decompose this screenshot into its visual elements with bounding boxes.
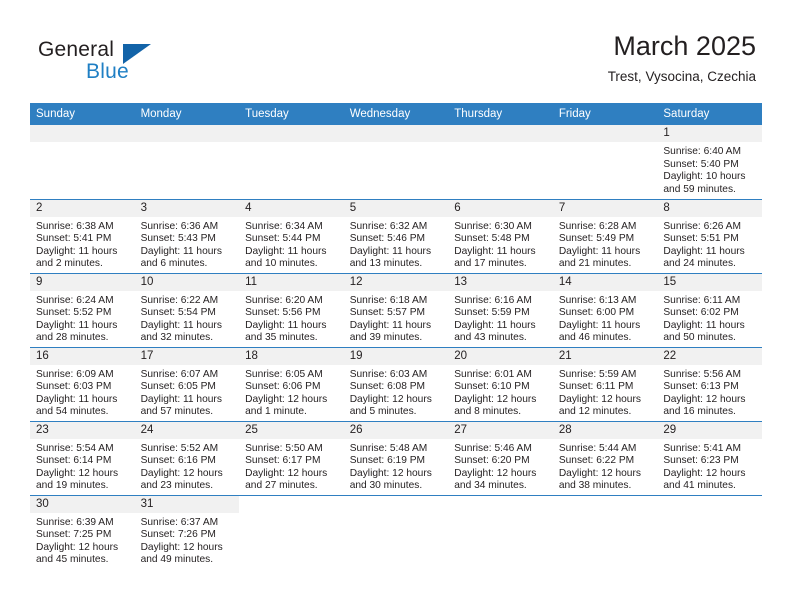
daylight-text-line2: and 6 minutes.	[141, 258, 234, 271]
calendar-day-cell[interactable]: 7Sunrise: 6:28 AMSunset: 5:49 PMDaylight…	[553, 199, 658, 273]
daylight-text-line2: and 23 minutes.	[141, 480, 234, 493]
sunset-text: Sunset: 6:03 PM	[36, 381, 129, 394]
day-sun-info: Sunrise: 5:41 AMSunset: 6:23 PMDaylight:…	[657, 439, 762, 493]
sunset-text: Sunset: 5:51 PM	[663, 233, 756, 246]
day-cell-inner: 13Sunrise: 6:16 AMSunset: 5:59 PMDayligh…	[448, 274, 553, 347]
weekday-header-monday: Monday	[135, 103, 240, 125]
daylight-text-line1: Daylight: 11 hours	[454, 320, 547, 333]
day-sun-info: Sunrise: 6:34 AMSunset: 5:44 PMDaylight:…	[239, 217, 344, 271]
sunrise-text: Sunrise: 6:30 AM	[454, 221, 547, 234]
day-number: 29	[657, 422, 762, 439]
sunrise-text: Sunrise: 5:46 AM	[454, 443, 547, 456]
day-cell-inner	[344, 496, 449, 574]
day-cell-inner: 28Sunrise: 5:44 AMSunset: 6:22 PMDayligh…	[553, 422, 658, 495]
sunrise-text: Sunrise: 6:18 AM	[350, 295, 443, 308]
daylight-text-line2: and 46 minutes.	[559, 332, 652, 345]
daylight-text-line1: Daylight: 12 hours	[245, 394, 338, 407]
sunrise-text: Sunrise: 6:39 AM	[36, 517, 129, 530]
day-number: 10	[135, 274, 240, 291]
day-number: 22	[657, 348, 762, 365]
day-cell-inner: 24Sunrise: 5:52 AMSunset: 6:16 PMDayligh…	[135, 422, 240, 495]
day-sun-info: Sunrise: 5:59 AMSunset: 6:11 PMDaylight:…	[553, 365, 658, 419]
calendar-day-cell[interactable]: 17Sunrise: 6:07 AMSunset: 6:05 PMDayligh…	[135, 347, 240, 421]
daylight-text-line2: and 41 minutes.	[663, 480, 756, 493]
day-number: 24	[135, 422, 240, 439]
daylight-text-line1: Daylight: 12 hours	[350, 468, 443, 481]
daylight-text-line1: Daylight: 11 hours	[245, 246, 338, 259]
daylight-text-line2: and 13 minutes.	[350, 258, 443, 271]
calendar-day-cell[interactable]: 8Sunrise: 6:26 AMSunset: 5:51 PMDaylight…	[657, 199, 762, 273]
day-cell-inner: 12Sunrise: 6:18 AMSunset: 5:57 PMDayligh…	[344, 274, 449, 347]
day-cell-inner: 22Sunrise: 5:56 AMSunset: 6:13 PMDayligh…	[657, 348, 762, 421]
day-sun-info: Sunrise: 6:03 AMSunset: 6:08 PMDaylight:…	[344, 365, 449, 419]
day-number: 20	[448, 348, 553, 365]
day-number: 16	[30, 348, 135, 365]
calendar-day-cell[interactable]: 19Sunrise: 6:03 AMSunset: 6:08 PMDayligh…	[344, 347, 449, 421]
page-header: General Blue March 2025 Trest, Vysocina,…	[0, 0, 792, 103]
daylight-text-line1: Daylight: 12 hours	[454, 468, 547, 481]
day-cell-inner: 9Sunrise: 6:24 AMSunset: 5:52 PMDaylight…	[30, 274, 135, 347]
daylight-text-line2: and 17 minutes.	[454, 258, 547, 271]
daylight-text-line1: Daylight: 12 hours	[454, 394, 547, 407]
sunrise-text: Sunrise: 5:52 AM	[141, 443, 234, 456]
day-sun-info: Sunrise: 6:18 AMSunset: 5:57 PMDaylight:…	[344, 291, 449, 345]
calendar-day-cell[interactable]: 2Sunrise: 6:38 AMSunset: 5:41 PMDaylight…	[30, 199, 135, 273]
day-sun-info: Sunrise: 6:36 AMSunset: 5:43 PMDaylight:…	[135, 217, 240, 271]
calendar-day-cell[interactable]: 9Sunrise: 6:24 AMSunset: 5:52 PMDaylight…	[30, 273, 135, 347]
sunset-text: Sunset: 6:23 PM	[663, 455, 756, 468]
sunset-text: Sunset: 7:26 PM	[141, 529, 234, 542]
sunrise-text: Sunrise: 6:37 AM	[141, 517, 234, 530]
day-cell-inner: 15Sunrise: 6:11 AMSunset: 6:02 PMDayligh…	[657, 274, 762, 347]
sunrise-text: Sunrise: 6:03 AM	[350, 369, 443, 382]
sunset-text: Sunset: 6:02 PM	[663, 307, 756, 320]
daylight-text-line2: and 43 minutes.	[454, 332, 547, 345]
calendar-empty-cell	[135, 125, 240, 199]
sunset-text: Sunset: 5:40 PM	[663, 159, 756, 172]
day-sun-info: Sunrise: 6:11 AMSunset: 6:02 PMDaylight:…	[657, 291, 762, 345]
day-number: 8	[657, 200, 762, 217]
day-number: 5	[344, 200, 449, 217]
sunset-text: Sunset: 6:08 PM	[350, 381, 443, 394]
sunrise-text: Sunrise: 6:34 AM	[245, 221, 338, 234]
day-cell-inner	[344, 125, 449, 199]
sunset-text: Sunset: 6:10 PM	[454, 381, 547, 394]
day-cell-inner	[448, 496, 553, 574]
day-sun-info: Sunrise: 6:26 AMSunset: 5:51 PMDaylight:…	[657, 217, 762, 271]
day-number: 23	[30, 422, 135, 439]
sunrise-text: Sunrise: 6:01 AM	[454, 369, 547, 382]
calendar-day-cell[interactable]: 24Sunrise: 5:52 AMSunset: 6:16 PMDayligh…	[135, 421, 240, 495]
day-number-empty	[344, 125, 449, 142]
day-number: 27	[448, 422, 553, 439]
calendar-day-cell[interactable]: 30Sunrise: 6:39 AMSunset: 7:25 PMDayligh…	[30, 495, 135, 573]
sunset-text: Sunset: 5:48 PM	[454, 233, 547, 246]
day-number: 1	[657, 125, 762, 142]
calendar-empty-cell	[448, 125, 553, 199]
sunset-text: Sunset: 5:44 PM	[245, 233, 338, 246]
daylight-text-line2: and 27 minutes.	[245, 480, 338, 493]
sunset-text: Sunset: 6:13 PM	[663, 381, 756, 394]
calendar-empty-cell	[553, 495, 658, 573]
calendar-day-cell[interactable]: 6Sunrise: 6:30 AMSunset: 5:48 PMDaylight…	[448, 199, 553, 273]
day-cell-inner	[135, 125, 240, 199]
daylight-text-line1: Daylight: 12 hours	[663, 468, 756, 481]
day-sun-info: Sunrise: 5:48 AMSunset: 6:19 PMDaylight:…	[344, 439, 449, 493]
day-cell-inner: 8Sunrise: 6:26 AMSunset: 5:51 PMDaylight…	[657, 200, 762, 273]
calendar-day-cell[interactable]: 3Sunrise: 6:36 AMSunset: 5:43 PMDaylight…	[135, 199, 240, 273]
day-cell-inner: 2Sunrise: 6:38 AMSunset: 5:41 PMDaylight…	[30, 200, 135, 273]
calendar-table: Sunday Monday Tuesday Wednesday Thursday…	[30, 103, 762, 573]
day-cell-inner: 23Sunrise: 5:54 AMSunset: 6:14 PMDayligh…	[30, 422, 135, 495]
sunrise-text: Sunrise: 6:36 AM	[141, 221, 234, 234]
day-sun-info: Sunrise: 6:05 AMSunset: 6:06 PMDaylight:…	[239, 365, 344, 419]
calendar-day-cell[interactable]: 5Sunrise: 6:32 AMSunset: 5:46 PMDaylight…	[344, 199, 449, 273]
daylight-text-line2: and 21 minutes.	[559, 258, 652, 271]
calendar-empty-cell	[448, 495, 553, 573]
daylight-text-line2: and 12 minutes.	[559, 406, 652, 419]
daylight-text-line1: Daylight: 11 hours	[36, 246, 129, 259]
day-number: 3	[135, 200, 240, 217]
daylight-text-line1: Daylight: 11 hours	[141, 246, 234, 259]
sunrise-text: Sunrise: 6:26 AM	[663, 221, 756, 234]
calendar-week-row: 9Sunrise: 6:24 AMSunset: 5:52 PMDaylight…	[30, 273, 762, 347]
day-number: 14	[553, 274, 658, 291]
sunset-text: Sunset: 5:54 PM	[141, 307, 234, 320]
logo-text-general: General	[38, 38, 114, 62]
sunrise-text: Sunrise: 6:05 AM	[245, 369, 338, 382]
title-block: March 2025 Trest, Vysocina, Czechia	[608, 30, 756, 86]
calendar-day-cell[interactable]: 28Sunrise: 5:44 AMSunset: 6:22 PMDayligh…	[553, 421, 658, 495]
weekday-header-friday: Friday	[553, 103, 658, 125]
day-number-empty	[239, 496, 344, 513]
sunrise-text: Sunrise: 6:32 AM	[350, 221, 443, 234]
sunrise-text: Sunrise: 6:11 AM	[663, 295, 756, 308]
daylight-text-line1: Daylight: 11 hours	[559, 246, 652, 259]
day-number: 7	[553, 200, 658, 217]
calendar-empty-cell	[553, 125, 658, 199]
calendar-empty-cell	[30, 125, 135, 199]
page-title: March 2025	[608, 30, 756, 62]
day-cell-inner: 14Sunrise: 6:13 AMSunset: 6:00 PMDayligh…	[553, 274, 658, 347]
daylight-text-line2: and 57 minutes.	[141, 406, 234, 419]
calendar-empty-cell	[344, 495, 449, 573]
calendar-day-cell[interactable]: 10Sunrise: 6:22 AMSunset: 5:54 PMDayligh…	[135, 273, 240, 347]
sunrise-text: Sunrise: 5:59 AM	[559, 369, 652, 382]
day-sun-info: Sunrise: 5:46 AMSunset: 6:20 PMDaylight:…	[448, 439, 553, 493]
day-cell-inner: 19Sunrise: 6:03 AMSunset: 6:08 PMDayligh…	[344, 348, 449, 421]
calendar-day-cell[interactable]: 13Sunrise: 6:16 AMSunset: 5:59 PMDayligh…	[448, 273, 553, 347]
day-number: 18	[239, 348, 344, 365]
weekday-header-row: Sunday Monday Tuesday Wednesday Thursday…	[30, 103, 762, 125]
daylight-text-line1: Daylight: 12 hours	[559, 394, 652, 407]
calendar-week-row: 1Sunrise: 6:40 AMSunset: 5:40 PMDaylight…	[30, 125, 762, 199]
day-cell-inner: 3Sunrise: 6:36 AMSunset: 5:43 PMDaylight…	[135, 200, 240, 273]
sunset-text: Sunset: 6:14 PM	[36, 455, 129, 468]
sunset-text: Sunset: 5:52 PM	[36, 307, 129, 320]
calendar-day-cell[interactable]: 23Sunrise: 5:54 AMSunset: 6:14 PMDayligh…	[30, 421, 135, 495]
day-cell-inner: 11Sunrise: 6:20 AMSunset: 5:56 PMDayligh…	[239, 274, 344, 347]
sunrise-text: Sunrise: 6:16 AM	[454, 295, 547, 308]
day-cell-inner	[239, 496, 344, 574]
calendar-day-cell[interactable]: 25Sunrise: 5:50 AMSunset: 6:17 PMDayligh…	[239, 421, 344, 495]
daylight-text-line2: and 19 minutes.	[36, 480, 129, 493]
daylight-text-line2: and 35 minutes.	[245, 332, 338, 345]
day-sun-info: Sunrise: 6:24 AMSunset: 5:52 PMDaylight:…	[30, 291, 135, 345]
day-number: 12	[344, 274, 449, 291]
daylight-text-line1: Daylight: 11 hours	[663, 246, 756, 259]
day-number-empty	[135, 125, 240, 142]
day-number: 26	[344, 422, 449, 439]
daylight-text-line1: Daylight: 12 hours	[141, 468, 234, 481]
daylight-text-line2: and 1 minute.	[245, 406, 338, 419]
day-cell-inner: 21Sunrise: 5:59 AMSunset: 6:11 PMDayligh…	[553, 348, 658, 421]
daylight-text-line1: Daylight: 12 hours	[350, 394, 443, 407]
day-cell-inner: 26Sunrise: 5:48 AMSunset: 6:19 PMDayligh…	[344, 422, 449, 495]
daylight-text-line2: and 45 minutes.	[36, 554, 129, 567]
calendar-empty-cell	[344, 125, 449, 199]
day-cell-inner: 5Sunrise: 6:32 AMSunset: 5:46 PMDaylight…	[344, 200, 449, 273]
sunset-text: Sunset: 6:20 PM	[454, 455, 547, 468]
day-number: 30	[30, 496, 135, 513]
daylight-text-line1: Daylight: 10 hours	[663, 171, 756, 184]
daylight-text-line2: and 32 minutes.	[141, 332, 234, 345]
weekday-header-saturday: Saturday	[657, 103, 762, 125]
sunrise-text: Sunrise: 6:24 AM	[36, 295, 129, 308]
day-sun-info: Sunrise: 6:28 AMSunset: 5:49 PMDaylight:…	[553, 217, 658, 271]
day-sun-info: Sunrise: 5:50 AMSunset: 6:17 PMDaylight:…	[239, 439, 344, 493]
daylight-text-line2: and 2 minutes.	[36, 258, 129, 271]
day-cell-inner: 18Sunrise: 6:05 AMSunset: 6:06 PMDayligh…	[239, 348, 344, 421]
day-number: 4	[239, 200, 344, 217]
sunrise-text: Sunrise: 5:44 AM	[559, 443, 652, 456]
day-sun-info: Sunrise: 6:22 AMSunset: 5:54 PMDaylight:…	[135, 291, 240, 345]
daylight-text-line2: and 34 minutes.	[454, 480, 547, 493]
daylight-text-line1: Daylight: 12 hours	[36, 468, 129, 481]
daylight-text-line2: and 16 minutes.	[663, 406, 756, 419]
day-cell-inner: 4Sunrise: 6:34 AMSunset: 5:44 PMDaylight…	[239, 200, 344, 273]
daylight-text-line1: Daylight: 11 hours	[141, 394, 234, 407]
sunrise-text: Sunrise: 6:20 AM	[245, 295, 338, 308]
day-sun-info: Sunrise: 6:32 AMSunset: 5:46 PMDaylight:…	[344, 217, 449, 271]
day-number: 31	[135, 496, 240, 513]
day-sun-info: Sunrise: 6:09 AMSunset: 6:03 PMDaylight:…	[30, 365, 135, 419]
day-cell-inner: 25Sunrise: 5:50 AMSunset: 6:17 PMDayligh…	[239, 422, 344, 495]
calendar-day-cell[interactable]: 22Sunrise: 5:56 AMSunset: 6:13 PMDayligh…	[657, 347, 762, 421]
sunset-text: Sunset: 6:19 PM	[350, 455, 443, 468]
daylight-text-line2: and 10 minutes.	[245, 258, 338, 271]
day-number-empty	[30, 125, 135, 142]
day-number: 17	[135, 348, 240, 365]
daylight-text-line2: and 8 minutes.	[454, 406, 547, 419]
weekday-header-tuesday: Tuesday	[239, 103, 344, 125]
calendar-empty-cell	[657, 495, 762, 573]
day-number-empty	[344, 496, 449, 513]
day-cell-inner: 31Sunrise: 6:37 AMSunset: 7:26 PMDayligh…	[135, 496, 240, 574]
sunset-text: Sunset: 5:59 PM	[454, 307, 547, 320]
sunset-text: Sunset: 6:11 PM	[559, 381, 652, 394]
sunset-text: Sunset: 6:22 PM	[559, 455, 652, 468]
daylight-text-line1: Daylight: 12 hours	[559, 468, 652, 481]
day-number-empty	[553, 496, 658, 513]
day-cell-inner: 30Sunrise: 6:39 AMSunset: 7:25 PMDayligh…	[30, 496, 135, 574]
general-blue-logo: General Blue	[38, 38, 238, 90]
day-cell-inner: 6Sunrise: 6:30 AMSunset: 5:48 PMDaylight…	[448, 200, 553, 273]
daylight-text-line2: and 59 minutes.	[663, 184, 756, 197]
daylight-text-line1: Daylight: 11 hours	[141, 320, 234, 333]
calendar-body: 1Sunrise: 6:40 AMSunset: 5:40 PMDaylight…	[30, 125, 762, 573]
daylight-text-line2: and 24 minutes.	[663, 258, 756, 271]
day-number: 21	[553, 348, 658, 365]
sunset-text: Sunset: 7:25 PM	[36, 529, 129, 542]
day-sun-info: Sunrise: 6:37 AMSunset: 7:26 PMDaylight:…	[135, 513, 240, 567]
daylight-text-line1: Daylight: 11 hours	[36, 394, 129, 407]
day-number: 9	[30, 274, 135, 291]
sunrise-text: Sunrise: 5:41 AM	[663, 443, 756, 456]
calendar-empty-cell	[239, 125, 344, 199]
sunrise-text: Sunrise: 5:54 AM	[36, 443, 129, 456]
day-cell-inner	[657, 496, 762, 574]
day-cell-inner: 7Sunrise: 6:28 AMSunset: 5:49 PMDaylight…	[553, 200, 658, 273]
daylight-text-line1: Daylight: 11 hours	[559, 320, 652, 333]
daylight-text-line1: Daylight: 12 hours	[141, 542, 234, 555]
day-sun-info: Sunrise: 6:01 AMSunset: 6:10 PMDaylight:…	[448, 365, 553, 419]
weekday-header-wednesday: Wednesday	[344, 103, 449, 125]
daylight-text-line1: Daylight: 11 hours	[350, 246, 443, 259]
sunset-text: Sunset: 5:57 PM	[350, 307, 443, 320]
weekday-header-thursday: Thursday	[448, 103, 553, 125]
calendar-day-cell[interactable]: 27Sunrise: 5:46 AMSunset: 6:20 PMDayligh…	[448, 421, 553, 495]
calendar-page: General Blue March 2025 Trest, Vysocina,…	[0, 0, 792, 612]
daylight-text-line1: Daylight: 12 hours	[663, 394, 756, 407]
day-sun-info: Sunrise: 6:38 AMSunset: 5:41 PMDaylight:…	[30, 217, 135, 271]
logo-text-blue: Blue	[86, 60, 129, 84]
sunset-text: Sunset: 6:17 PM	[245, 455, 338, 468]
daylight-text-line2: and 38 minutes.	[559, 480, 652, 493]
sunset-text: Sunset: 6:06 PM	[245, 381, 338, 394]
day-number: 2	[30, 200, 135, 217]
sunrise-text: Sunrise: 5:56 AM	[663, 369, 756, 382]
day-number: 25	[239, 422, 344, 439]
sunrise-text: Sunrise: 6:40 AM	[663, 146, 756, 159]
day-cell-inner: 16Sunrise: 6:09 AMSunset: 6:03 PMDayligh…	[30, 348, 135, 421]
calendar-day-cell[interactable]: 14Sunrise: 6:13 AMSunset: 6:00 PMDayligh…	[553, 273, 658, 347]
daylight-text-line1: Daylight: 11 hours	[454, 246, 547, 259]
calendar-day-cell[interactable]: 16Sunrise: 6:09 AMSunset: 6:03 PMDayligh…	[30, 347, 135, 421]
day-number: 15	[657, 274, 762, 291]
calendar-week-row: 30Sunrise: 6:39 AMSunset: 7:25 PMDayligh…	[30, 495, 762, 573]
daylight-text-line2: and 54 minutes.	[36, 406, 129, 419]
calendar-day-cell[interactable]: 31Sunrise: 6:37 AMSunset: 7:26 PMDayligh…	[135, 495, 240, 573]
weekday-header-sunday: Sunday	[30, 103, 135, 125]
day-cell-inner: 29Sunrise: 5:41 AMSunset: 6:23 PMDayligh…	[657, 422, 762, 495]
day-number: 11	[239, 274, 344, 291]
calendar-day-cell[interactable]: 15Sunrise: 6:11 AMSunset: 6:02 PMDayligh…	[657, 273, 762, 347]
calendar-day-cell[interactable]: 29Sunrise: 5:41 AMSunset: 6:23 PMDayligh…	[657, 421, 762, 495]
day-cell-inner: 10Sunrise: 6:22 AMSunset: 5:54 PMDayligh…	[135, 274, 240, 347]
day-sun-info: Sunrise: 6:13 AMSunset: 6:00 PMDaylight:…	[553, 291, 658, 345]
day-number: 13	[448, 274, 553, 291]
calendar-day-cell[interactable]: 21Sunrise: 5:59 AMSunset: 6:11 PMDayligh…	[553, 347, 658, 421]
sunset-text: Sunset: 6:00 PM	[559, 307, 652, 320]
sunrise-text: Sunrise: 6:07 AM	[141, 369, 234, 382]
sunrise-text: Sunrise: 6:28 AM	[559, 221, 652, 234]
calendar-day-cell[interactable]: 18Sunrise: 6:05 AMSunset: 6:06 PMDayligh…	[239, 347, 344, 421]
sunrise-text: Sunrise: 6:09 AM	[36, 369, 129, 382]
sunset-text: Sunset: 5:56 PM	[245, 307, 338, 320]
calendar-day-cell[interactable]: 20Sunrise: 6:01 AMSunset: 6:10 PMDayligh…	[448, 347, 553, 421]
day-sun-info: Sunrise: 5:56 AMSunset: 6:13 PMDaylight:…	[657, 365, 762, 419]
daylight-text-line1: Daylight: 11 hours	[350, 320, 443, 333]
day-cell-inner: 20Sunrise: 6:01 AMSunset: 6:10 PMDayligh…	[448, 348, 553, 421]
day-cell-inner	[448, 125, 553, 199]
day-sun-info: Sunrise: 5:54 AMSunset: 6:14 PMDaylight:…	[30, 439, 135, 493]
sunset-text: Sunset: 5:49 PM	[559, 233, 652, 246]
daylight-text-line2: and 5 minutes.	[350, 406, 443, 419]
calendar-day-cell[interactable]: 26Sunrise: 5:48 AMSunset: 6:19 PMDayligh…	[344, 421, 449, 495]
day-sun-info: Sunrise: 6:16 AMSunset: 5:59 PMDaylight:…	[448, 291, 553, 345]
daylight-text-line2: and 28 minutes.	[36, 332, 129, 345]
day-cell-inner: 1Sunrise: 6:40 AMSunset: 5:40 PMDaylight…	[657, 125, 762, 199]
day-number-empty	[239, 125, 344, 142]
daylight-text-line2: and 39 minutes.	[350, 332, 443, 345]
day-cell-inner	[553, 125, 658, 199]
day-number: 19	[344, 348, 449, 365]
day-cell-inner	[239, 125, 344, 199]
daylight-text-line1: Daylight: 12 hours	[36, 542, 129, 555]
daylight-text-line1: Daylight: 12 hours	[245, 468, 338, 481]
sunset-text: Sunset: 6:05 PM	[141, 381, 234, 394]
calendar-day-cell[interactable]: 1Sunrise: 6:40 AMSunset: 5:40 PMDaylight…	[657, 125, 762, 199]
day-cell-inner	[553, 496, 658, 574]
day-number: 6	[448, 200, 553, 217]
day-cell-inner: 17Sunrise: 6:07 AMSunset: 6:05 PMDayligh…	[135, 348, 240, 421]
sunset-text: Sunset: 5:46 PM	[350, 233, 443, 246]
page-subtitle: Trest, Vysocina, Czechia	[608, 69, 756, 85]
sunset-text: Sunset: 5:43 PM	[141, 233, 234, 246]
day-sun-info: Sunrise: 6:07 AMSunset: 6:05 PMDaylight:…	[135, 365, 240, 419]
day-number-empty	[657, 496, 762, 513]
day-cell-inner: 27Sunrise: 5:46 AMSunset: 6:20 PMDayligh…	[448, 422, 553, 495]
daylight-text-line2: and 50 minutes.	[663, 332, 756, 345]
sunrise-text: Sunrise: 6:22 AM	[141, 295, 234, 308]
day-number-empty	[448, 496, 553, 513]
calendar-day-cell[interactable]: 11Sunrise: 6:20 AMSunset: 5:56 PMDayligh…	[239, 273, 344, 347]
sunset-text: Sunset: 6:16 PM	[141, 455, 234, 468]
day-sun-info: Sunrise: 5:44 AMSunset: 6:22 PMDaylight:…	[553, 439, 658, 493]
day-cell-inner	[30, 125, 135, 199]
daylight-text-line2: and 30 minutes.	[350, 480, 443, 493]
sunrise-text: Sunrise: 5:48 AM	[350, 443, 443, 456]
daylight-text-line2: and 49 minutes.	[141, 554, 234, 567]
calendar-week-row: 16Sunrise: 6:09 AMSunset: 6:03 PMDayligh…	[30, 347, 762, 421]
day-sun-info: Sunrise: 6:20 AMSunset: 5:56 PMDaylight:…	[239, 291, 344, 345]
calendar-week-row: 2Sunrise: 6:38 AMSunset: 5:41 PMDaylight…	[30, 199, 762, 273]
calendar-day-cell[interactable]: 12Sunrise: 6:18 AMSunset: 5:57 PMDayligh…	[344, 273, 449, 347]
day-sun-info: Sunrise: 6:39 AMSunset: 7:25 PMDaylight:…	[30, 513, 135, 567]
day-sun-info: Sunrise: 6:30 AMSunset: 5:48 PMDaylight:…	[448, 217, 553, 271]
day-number: 28	[553, 422, 658, 439]
day-number-empty	[448, 125, 553, 142]
calendar-day-cell[interactable]: 4Sunrise: 6:34 AMSunset: 5:44 PMDaylight…	[239, 199, 344, 273]
daylight-text-line1: Daylight: 11 hours	[36, 320, 129, 333]
day-sun-info: Sunrise: 5:52 AMSunset: 6:16 PMDaylight:…	[135, 439, 240, 493]
sunrise-text: Sunrise: 6:13 AM	[559, 295, 652, 308]
day-sun-info: Sunrise: 6:40 AMSunset: 5:40 PMDaylight:…	[657, 142, 762, 196]
sunrise-text: Sunrise: 5:50 AM	[245, 443, 338, 456]
daylight-text-line1: Daylight: 11 hours	[245, 320, 338, 333]
daylight-text-line1: Daylight: 11 hours	[663, 320, 756, 333]
